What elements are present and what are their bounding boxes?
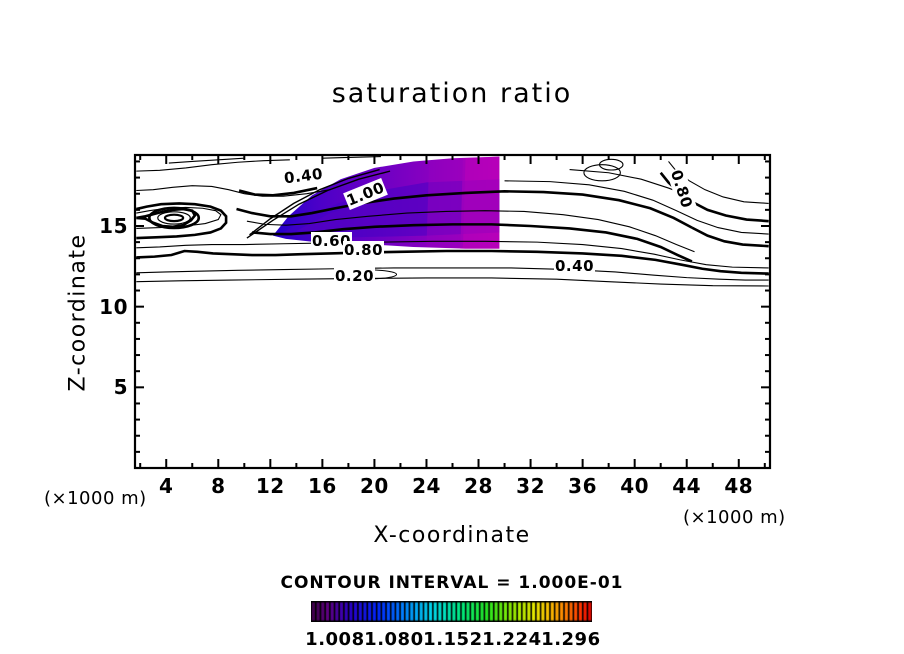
x-tick-label: 48	[719, 474, 759, 498]
x-tick-label: 40	[615, 474, 655, 498]
colorbar-gradient	[311, 601, 592, 622]
x-axis-unit-note-right: (×1000 m)	[683, 507, 786, 528]
x-tick-label: 8	[198, 474, 238, 498]
contour-plot-figure: saturation ratio 4812162024283236404448 …	[0, 0, 904, 654]
x-tick-label: 4	[146, 474, 186, 498]
y-axis-title: Z-coordinate	[66, 193, 91, 433]
y-tick-label: 5	[96, 375, 128, 399]
y-tick-label: 15	[96, 214, 128, 238]
x-axis-unit-note-left: (×1000 m)	[44, 488, 147, 509]
x-tick-label: 24	[407, 474, 447, 498]
x-tick-label: 36	[563, 474, 603, 498]
y-tick-label: 10	[96, 295, 128, 319]
contour-value-label: 0.20	[334, 267, 375, 285]
x-tick-label: 20	[354, 474, 394, 498]
contour-value-label: 0.40	[554, 257, 595, 275]
x-tick-label: 32	[511, 474, 551, 498]
x-tick-label: 12	[250, 474, 290, 498]
x-tick-label: 28	[459, 474, 499, 498]
colorbar-tick-label: 1.296	[536, 629, 606, 650]
x-tick-label: 16	[302, 474, 342, 498]
colorbar-caption: CONTOUR INTERVAL = 1.000E-01	[0, 573, 904, 593]
contour-value-label: 0.80	[343, 241, 384, 259]
x-tick-label: 44	[667, 474, 707, 498]
plot-canvas	[0, 0, 904, 654]
colorbar	[311, 601, 592, 622]
